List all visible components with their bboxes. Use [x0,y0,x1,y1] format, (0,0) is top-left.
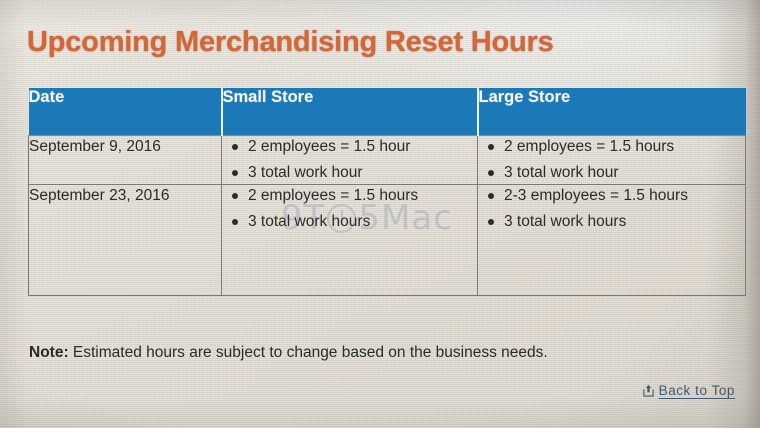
table-header: Date Small Store Large Store [29,88,746,136]
list-item: 3 total work hours [504,211,745,232]
cell-small-store: 2 employees = 1.5 hours 3 total work hou… [222,184,478,295]
table-row: September 9, 2016 2 employees = 1.5 hour… [29,136,746,185]
back-to-top-link[interactable]: Back to Top [643,383,735,398]
small-store-bullet-list: 2 employees = 1.5 hours 3 total work hou… [222,185,477,233]
large-store-bullet-list: 2-3 employees = 1.5 hours 3 total work h… [478,185,745,233]
large-store-bullet-list: 2 employees = 1.5 hours 3 total work hou… [478,136,745,184]
cell-date: September 23, 2016 [29,184,222,295]
list-item: 2 employees = 1.5 hours [248,185,477,206]
page-title: Upcoming Merchandising Reset Hours [27,26,554,59]
table-body: September 9, 2016 2 employees = 1.5 hour… [29,136,746,296]
column-header-small-store: Small Store [222,88,478,136]
arrow-up-from-box-icon [643,384,654,397]
photographed-screen: 9T5Mac Upcoming Merchandising Reset Hour… [0,0,760,428]
list-item: 2-3 employees = 1.5 hours [504,185,745,206]
list-item: 3 total work hour [504,162,745,183]
list-item: 3 total work hour [248,162,477,183]
merchandising-reset-hours-table: Date Small Store Large Store September 9… [28,88,746,296]
note-label: Note: [29,344,69,361]
table-header-row: Date Small Store Large Store [29,88,746,136]
note: Note: Estimated hours are subject to cha… [29,344,548,362]
column-header-date: Date [29,88,222,136]
cell-large-store: 2-3 employees = 1.5 hours 3 total work h… [478,184,746,295]
cell-small-store: 2 employees = 1.5 hour 3 total work hour [222,136,478,185]
slide-content: Upcoming Merchandising Reset Hours Date … [0,0,760,428]
note-text: Estimated hours are subject to change ba… [69,344,548,361]
table-row: September 23, 2016 2 employees = 1.5 hou… [29,184,746,295]
back-to-top-label: Back to Top [659,383,735,398]
list-item: 2 employees = 1.5 hours [504,136,745,157]
list-item: 2 employees = 1.5 hour [248,136,477,157]
small-store-bullet-list: 2 employees = 1.5 hour 3 total work hour [222,136,477,184]
cell-date: September 9, 2016 [29,136,222,185]
cell-large-store: 2 employees = 1.5 hours 3 total work hou… [478,136,746,185]
column-header-large-store: Large Store [478,88,746,136]
list-item: 3 total work hours [248,211,477,232]
